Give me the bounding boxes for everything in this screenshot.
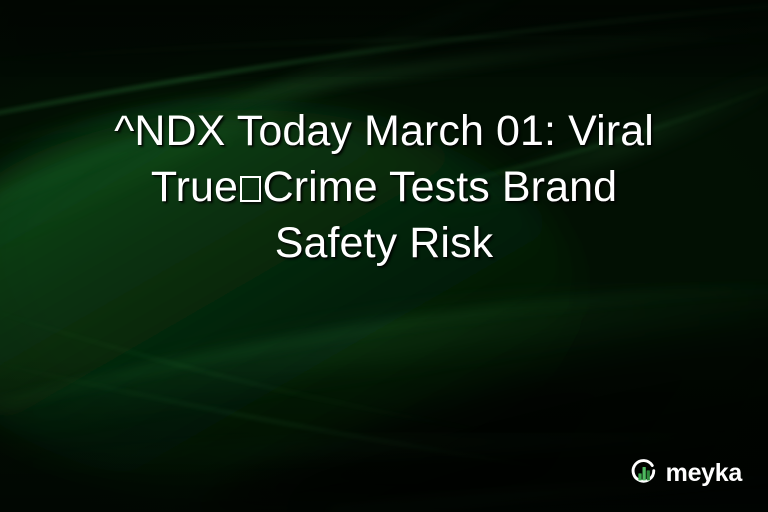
page-title: ^NDX Today March 01: ViralTrueCrime Test… <box>114 104 654 272</box>
headline-container: ^NDX Today March 01: ViralTrueCrime Test… <box>0 104 768 272</box>
brand-name: meyka <box>666 461 742 486</box>
brand-logo[interactable]: meyka <box>629 458 742 488</box>
headline-line-2-prefix: True <box>151 163 238 211</box>
social-share-card: ^NDX Today March 01: ViralTrueCrime Test… <box>0 0 768 512</box>
headline-line-2-suffix: Crime Tests Brand <box>263 163 618 211</box>
headline-line-3: Safety Risk <box>275 219 494 267</box>
headline-line-1: ^NDX Today March 01: Viral <box>114 107 654 155</box>
missing-glyph-box <box>240 176 262 202</box>
circle-bar-chart-icon <box>629 458 659 488</box>
